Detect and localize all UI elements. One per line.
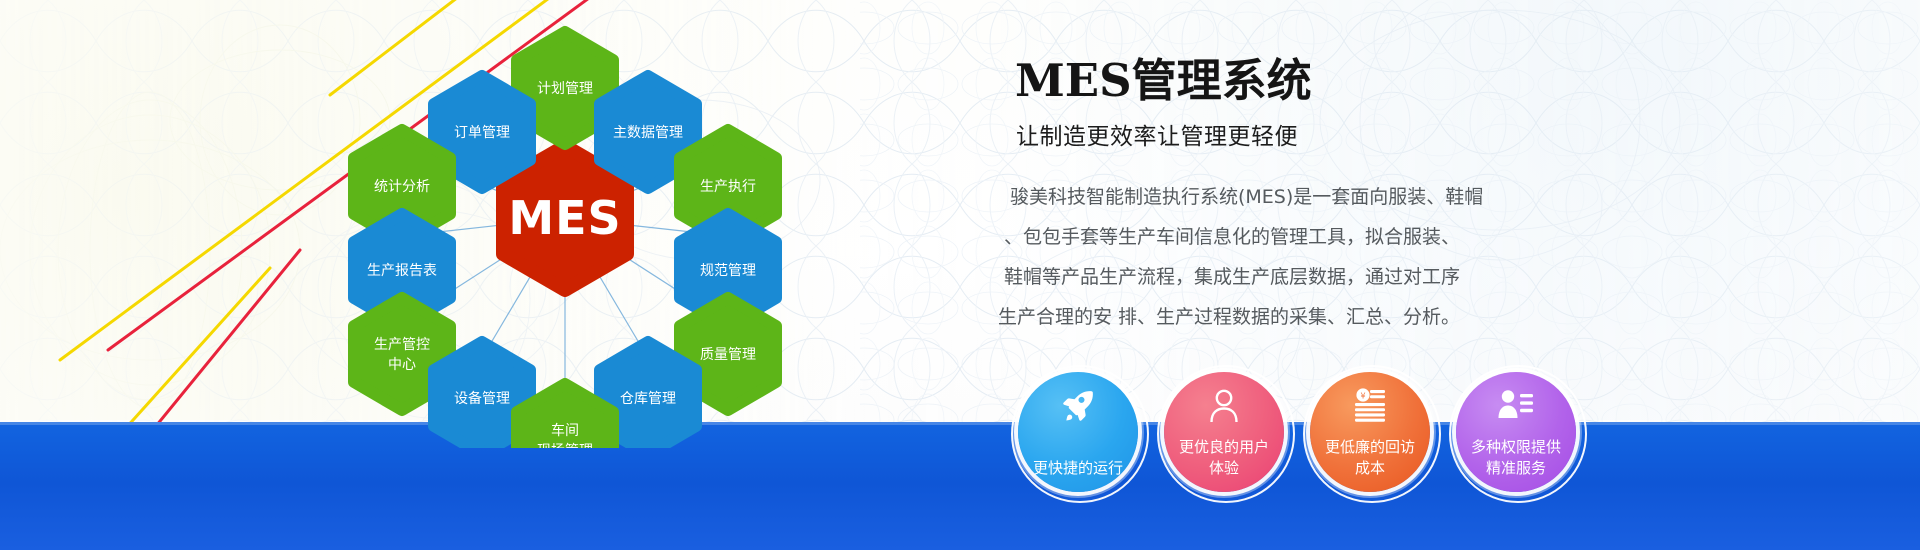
background-blue-band <box>0 422 1920 550</box>
user-list-icon <box>1456 385 1576 427</box>
hero-text-column: MES管理系统 让制造更效率让管理更轻便 骏美科技智能制造执行系统(MES)是一… <box>1010 58 1610 337</box>
user-icon <box>1164 385 1284 427</box>
hex-label: 车间 <box>551 422 579 439</box>
hex-label: 主数据管理 <box>613 125 683 141</box>
description-line: 骏美科技智能制造执行系统(MES)是一套面向服装、鞋帽 <box>1010 177 1570 217</box>
money-icon: ¥ <box>1310 385 1430 427</box>
hex-label: 质量管理 <box>700 347 756 363</box>
svg-text:¥: ¥ <box>1360 392 1365 401</box>
badge-text-line2: 精准服务 <box>1486 459 1546 477</box>
hex-label: 生产报告表 <box>367 263 437 279</box>
badge-text-line1: 更低廉的回访 <box>1325 438 1415 456</box>
badge-text: 更低廉的回访 成本 <box>1316 437 1424 479</box>
hex-label: 统计分析 <box>374 179 430 195</box>
hex-label: 规范管理 <box>700 262 756 279</box>
description-line: 生产合理的安 排、生产过程数据的采集、汇总、分析。 <box>1010 297 1570 337</box>
badge-text-line1: 更快捷的运行 <box>1033 459 1123 477</box>
description-line: 、包包手套等生产车间信息化的管理工具，拟合服装、 <box>1010 217 1570 257</box>
badge-text-line2: 体验 <box>1209 459 1239 477</box>
hex-center-label: MES <box>508 191 621 245</box>
hex-label: 设备管理 <box>454 390 510 407</box>
rocket-icon <box>1018 385 1138 427</box>
feature-badge-faster-operation[interactable]: 更快捷的运行 <box>1018 372 1138 492</box>
badge-text: 更优良的用户 体验 <box>1170 437 1278 479</box>
page-subtitle: 让制造更效率让管理更轻便 <box>1016 117 1610 151</box>
badge-text-line1: 更优良的用户 <box>1179 438 1269 456</box>
hex-label: 生产管控 <box>374 337 430 353</box>
badge-text: 更快捷的运行 <box>1024 458 1132 479</box>
hero-description: 骏美科技智能制造执行系统(MES)是一套面向服装、鞋帽 、包包手套等生产车间信息… <box>1010 177 1570 337</box>
mes-hero-banner: MES 计划管理 订单管理 主数据管理 统计分析 <box>0 0 1920 550</box>
feature-badge-permissions[interactable]: 多种权限提供 精准服务 <box>1456 372 1576 492</box>
hex-label-line2: 现场管理 <box>537 443 593 448</box>
hex-label: 仓库管理 <box>620 391 676 407</box>
feature-badge-lower-cost[interactable]: ¥ 更低廉的回访 成本 <box>1310 372 1430 492</box>
feature-badge-better-ux[interactable]: 更优良的用户 体验 <box>1164 372 1284 492</box>
hex-label: 计划管理 <box>537 81 593 97</box>
badge-text-line1: 多种权限提供 <box>1471 438 1561 456</box>
hex-label: 生产执行 <box>700 179 756 195</box>
mes-hexagon-diagram: MES 计划管理 订单管理 主数据管理 统计分析 <box>330 18 800 438</box>
badge-text: 多种权限提供 精准服务 <box>1462 437 1570 479</box>
hex-label-line2: 中心 <box>388 357 416 373</box>
badge-text-line2: 成本 <box>1355 459 1385 477</box>
hex-label: 订单管理 <box>454 125 510 141</box>
feature-badges: 更快捷的运行 更优良的用户 体验 <box>1018 372 1576 492</box>
page-title: MES管理系统 <box>1015 58 1610 103</box>
description-line: 鞋帽等产品生产流程，集成生产底层数据，通过对工序 <box>1010 257 1570 297</box>
